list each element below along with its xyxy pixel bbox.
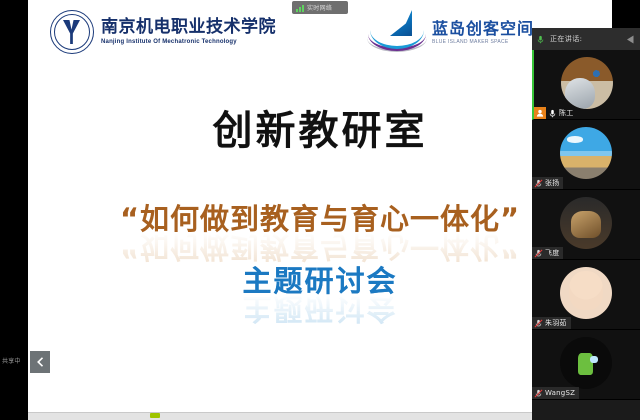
avatar (560, 127, 612, 179)
mic-muted-icon (534, 179, 543, 188)
avatar (561, 57, 613, 109)
panel-header: 正在讲话: (532, 28, 640, 50)
slide-progress-marker (150, 413, 160, 418)
participant-tile[interactable]: 陈工 (532, 50, 640, 120)
mic-icon (536, 35, 545, 44)
participant-name: 朱羽茹 (545, 318, 567, 328)
partner-logo: 蓝岛创客空间 BLUE ISLAND MAKER SPACE (368, 8, 534, 48)
university-logo: 南京机电职业技术学院 Nanjing Institute Of Mechatro… (50, 10, 276, 54)
host-badge-icon (534, 107, 546, 119)
participant-tile[interactable]: 张扬 (532, 120, 640, 190)
speaking-now-label: 正在讲话: (550, 34, 617, 44)
participant-tile[interactable]: 朱羽茹 (532, 260, 640, 330)
avatar (560, 267, 612, 319)
participant-nametag: 飞度 (532, 247, 563, 259)
chevron-collapse-icon (624, 34, 635, 45)
chevron-left-icon (36, 357, 44, 367)
mic-muted-icon (534, 319, 543, 328)
network-status-badge: 实时网络 (292, 1, 348, 14)
video-conference-window: 南京机电职业技术学院 Nanjing Institute Of Mechatro… (0, 0, 640, 420)
sailboat-icon (368, 8, 428, 48)
participant-nametag: 陈工 (534, 107, 577, 119)
partner-name-en: BLUE ISLAND MAKER SPACE (432, 40, 534, 45)
network-status-label: 实时网络 (307, 3, 332, 12)
signal-bars-icon (296, 4, 304, 12)
participant-name: 陈工 (559, 108, 573, 118)
sharing-corner-label: 共享中 (2, 356, 21, 365)
mic-muted-icon (534, 389, 543, 398)
previous-slide-button[interactable] (30, 351, 50, 373)
partner-name-cn: 蓝岛创客空间 (432, 21, 534, 37)
participant-name: 张扬 (545, 178, 559, 188)
participant-nametag: WangSZ (532, 387, 579, 399)
participant-name: 飞度 (545, 248, 559, 258)
university-name-cn: 南京机电职业技术学院 (101, 19, 276, 36)
slide-event-type: 主题研讨会 (28, 258, 612, 300)
mic-icon (548, 109, 557, 118)
participant-panel[interactable]: 正在讲话: 陈工 (532, 28, 640, 420)
avatar (560, 197, 612, 249)
university-name-en: Nanjing Institute Of Mechatronic Technol… (101, 39, 276, 45)
panel-collapse-button[interactable] (622, 32, 636, 46)
participant-tile[interactable]: WangSZ (532, 330, 640, 400)
avatar (560, 337, 612, 389)
participant-nametag: 张扬 (532, 177, 563, 189)
participant-nametag: 朱羽茹 (532, 317, 571, 329)
university-seal-icon (50, 10, 94, 54)
participant-tile[interactable]: 飞度 (532, 190, 640, 260)
slide-title-main: 创新教研室 (28, 98, 612, 156)
participant-name: WangSZ (545, 389, 575, 397)
shared-slide-stage[interactable]: 南京机电职业技术学院 Nanjing Institute Of Mechatro… (28, 0, 612, 412)
mic-muted-icon (534, 249, 543, 258)
slide-subtitle-quote: “如何做到教育与育心一体化” (28, 196, 612, 238)
